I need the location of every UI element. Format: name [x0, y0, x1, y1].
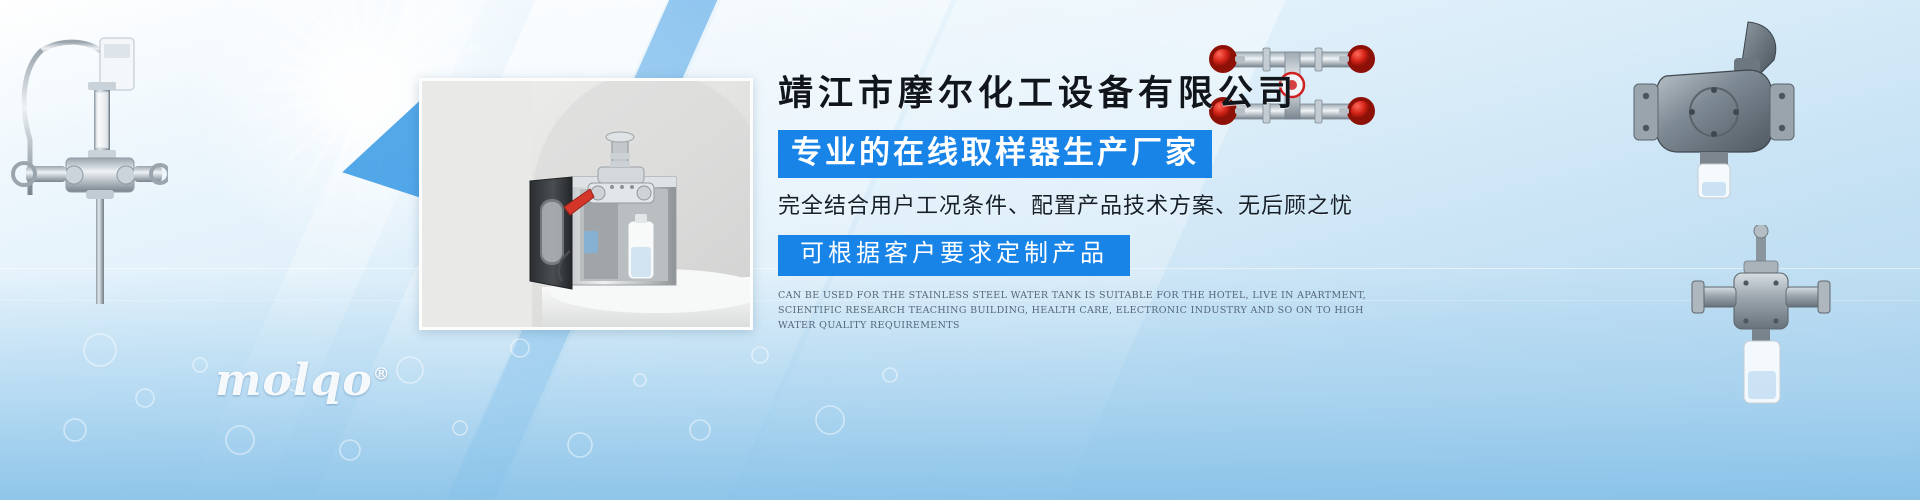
custom-product-tag: 可根据客户要求定制产品 — [778, 235, 1130, 276]
sub-headline: 完全结合用户工况条件、配置产品技术方案、无后顾之忧 — [778, 192, 1408, 221]
flanged-sampler-valve-icon — [1630, 18, 1810, 203]
headline-badge: 专业的在线取样器生产厂家 — [778, 130, 1212, 179]
registered-trademark-icon: ® — [373, 364, 391, 384]
company-name: 靖江市摩尔化工设备有限公司 — [778, 72, 1408, 116]
bubbles-icon — [40, 310, 940, 490]
sampling-probe-assembly-icon — [8, 20, 168, 310]
inline-sampler-valve-icon — [1690, 225, 1840, 415]
banner-text-column: 靖江市摩尔化工设备有限公司 专业的在线取样器生产厂家 完全结合用户工况条件、配置… — [778, 72, 1408, 334]
promo-banner: 靖江市摩尔化工设备有限公司 专业的在线取样器生产厂家 完全结合用户工况条件、配置… — [0, 0, 1920, 500]
watermark: molqo® — [215, 355, 391, 406]
english-description: CAN BE USED FOR THE STAINLESS STEEL WATE… — [778, 288, 1388, 334]
watermark-text: molqo — [215, 355, 373, 406]
sampler-cabinet-photo — [419, 78, 753, 330]
